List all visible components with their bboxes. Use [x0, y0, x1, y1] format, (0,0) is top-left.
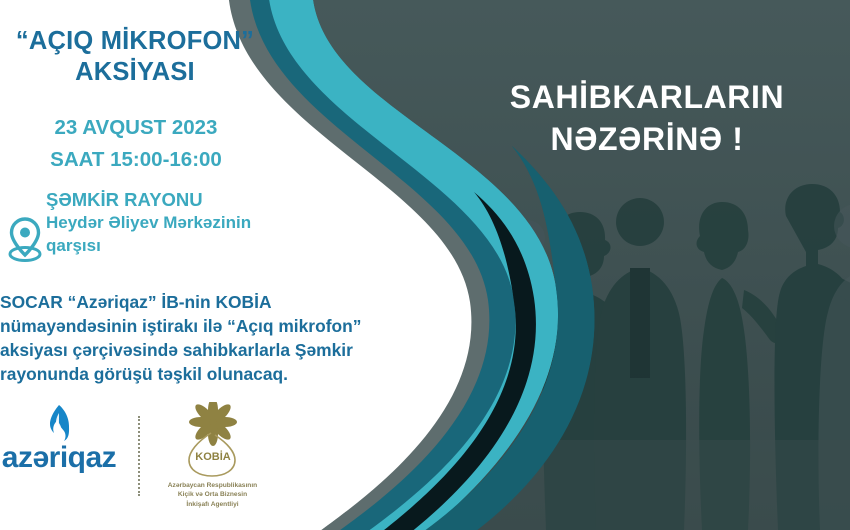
- kobia-caption-line-1: Azərbaycan Respublikasının: [150, 481, 275, 490]
- kobia-caption-line-2: Kiçik və Orta Biznesin: [150, 490, 275, 499]
- headline-line-2: NƏZƏRİNƏ !: [452, 118, 842, 160]
- kobia-caption-line-3: İnkişafı Agentliyi: [150, 500, 275, 509]
- venue-address-line-1: Heydər Əliyev Mərkəzinin: [46, 212, 386, 235]
- description-line-2: nümayəndəsinin iştirakı ilə “Açıq mikrof…: [0, 314, 420, 338]
- flame-icon: [40, 404, 78, 444]
- event-title: “AÇIQ MİKROFON” AKSİYASI: [0, 26, 270, 88]
- description-line-4: rayonunda görüşü təşkil olunacaq.: [0, 362, 420, 386]
- event-date: 23 AVQUST 2023: [0, 112, 272, 144]
- kobia-flower-icon: KOBİA: [167, 402, 259, 480]
- logo-row: azəriqaz: [0, 404, 300, 524]
- description-line-1: SOCAR “Azəriqaz” İB-nin KOBİA: [0, 290, 420, 314]
- venue-district: ŞƏMKİR RAYONU: [46, 188, 386, 212]
- logo-divider: [138, 416, 140, 496]
- venue-address-line-2: qarşısı: [46, 235, 386, 258]
- azeriqaz-wordmark: azəriqaz: [0, 441, 130, 475]
- poster-canvas: “AÇIQ MİKROFON” AKSİYASI 23 AVQUST 2023 …: [0, 0, 850, 530]
- event-title-line-1: “AÇIQ MİKROFON”: [0, 26, 270, 57]
- event-description: SOCAR “Azəriqaz” İB-nin KOBİA nümayəndəs…: [0, 290, 420, 386]
- kobia-logo: KOBİA Azərbaycan Respublikasının Kiçik v…: [150, 402, 275, 509]
- event-time: SAAT 15:00-16:00: [0, 144, 272, 176]
- main-headline: SAHİBKARLARIN NƏZƏRİNƏ !: [452, 76, 842, 160]
- azeriqaz-logo: azəriqaz: [0, 404, 130, 475]
- event-datetime: 23 AVQUST 2023 SAAT 15:00-16:00: [0, 112, 272, 176]
- event-venue: ŞƏMKİR RAYONU Heydər Əliyev Mərkəzinin q…: [46, 188, 386, 258]
- location-pin-icon: [5, 216, 45, 264]
- headline-line-1: SAHİBKARLARIN: [452, 76, 842, 118]
- left-content-column: “AÇIQ MİKROFON” AKSİYASI 23 AVQUST 2023 …: [0, 0, 430, 530]
- description-line-3: aksiyası çərçivəsində sahibkarlarla Şəmk…: [0, 338, 420, 362]
- kobia-monogram: KOBİA: [195, 450, 231, 463]
- event-title-line-2: AKSİYASI: [0, 57, 270, 88]
